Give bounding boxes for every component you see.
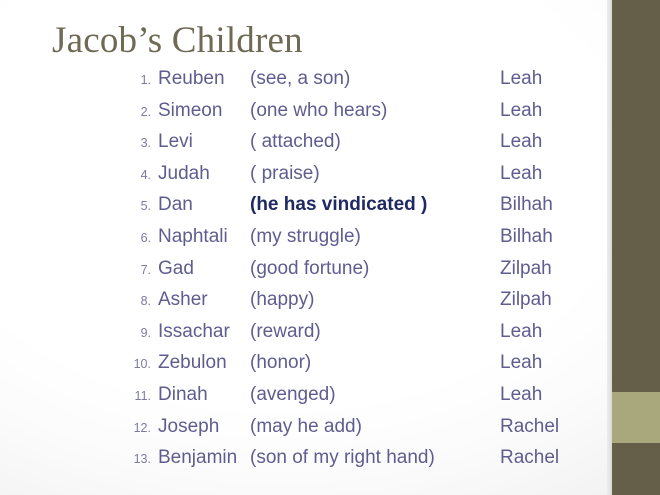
list-item-number: 3. (126, 136, 158, 150)
list-item-name: Levi (158, 131, 250, 153)
list-item-number: 9. (126, 326, 158, 340)
list-item-number: 8. (126, 294, 158, 308)
list-item-meaning: (one who hears) (250, 100, 500, 122)
list-item-meaning: (may he add) (250, 416, 500, 438)
list-item-name: Asher (158, 289, 250, 311)
list-item-name: Naphtali (158, 226, 250, 248)
list-item-number: 11. (126, 389, 158, 403)
list-item: 12.Joseph(may he add)Rachel (126, 416, 606, 448)
list-item-number: 12. (126, 421, 158, 435)
list-item-mother: Leah (500, 321, 542, 343)
list-item-mother: Leah (500, 352, 542, 374)
list-item-name: Reuben (158, 68, 250, 90)
list-item: 6.Naphtali(my struggle)Bilhah (126, 226, 606, 258)
children-list: 1.Reuben(see, a son)Leah2.Simeon(one who… (126, 68, 606, 479)
list-item-mother: Leah (500, 131, 542, 153)
list-item-name: Judah (158, 163, 250, 185)
list-item-number: 10. (126, 357, 158, 371)
list-item: 3.Levi( attached)Leah (126, 131, 606, 163)
list-item-name: Joseph (158, 416, 250, 438)
list-item-number: 6. (126, 231, 158, 245)
list-item-number: 1. (126, 73, 158, 87)
list-item: 5.Dan(he has vindicated )Bilhah (126, 194, 606, 226)
list-item-name: Zebulon (158, 352, 250, 374)
list-item-name: Dinah (158, 384, 250, 406)
list-item-number: 2. (126, 105, 158, 119)
list-item: 1.Reuben(see, a son)Leah (126, 68, 606, 100)
list-item-mother: Zilpah (500, 289, 552, 311)
list-item: 2.Simeon(one who hears)Leah (126, 100, 606, 132)
list-item-name: Dan (158, 194, 250, 216)
list-item-meaning: (son of my right hand) (250, 447, 500, 469)
list-item-mother: Rachel (500, 447, 559, 469)
list-item-number: 7. (126, 263, 158, 277)
list-item-mother: Leah (500, 68, 542, 90)
list-item-mother: Rachel (500, 416, 559, 438)
list-item-meaning: (reward) (250, 321, 500, 343)
list-item-name: Simeon (158, 100, 250, 122)
list-item-meaning: ( praise) (250, 163, 500, 185)
list-item-mother: Zilpah (500, 258, 552, 280)
page-title: Jacob’s Children (52, 21, 303, 62)
list-item-name: Gad (158, 258, 250, 280)
list-item-number: 13. (126, 452, 158, 466)
list-item-meaning: ( attached) (250, 131, 500, 153)
right-decorative-bar-accent (612, 392, 660, 443)
list-item-mother: Leah (500, 384, 542, 406)
list-item-meaning: (my struggle) (250, 226, 500, 248)
list-item-meaning: (he has vindicated ) (250, 194, 500, 216)
list-item-mother: Bilhah (500, 226, 553, 248)
list-item-mother: Leah (500, 163, 542, 185)
list-item-name: Benjamin (158, 447, 250, 469)
list-item-meaning: (good fortune) (250, 258, 500, 280)
list-item-meaning: (avenged) (250, 384, 500, 406)
list-item: 4.Judah( praise)Leah (126, 163, 606, 195)
list-item-number: 4. (126, 168, 158, 182)
list-item: 8.Asher(happy)Zilpah (126, 289, 606, 321)
list-item-mother: Bilhah (500, 194, 553, 216)
list-item: 11.Dinah(avenged)Leah (126, 384, 606, 416)
list-item: 9.Issachar(reward)Leah (126, 321, 606, 353)
list-item-meaning: (honor) (250, 352, 500, 374)
slide-canvas: Jacob’s Children 1.Reuben(see, a son)Lea… (0, 0, 660, 495)
list-item-name: Issachar (158, 321, 250, 343)
list-item-meaning: (see, a son) (250, 68, 500, 90)
list-item-number: 5. (126, 199, 158, 213)
list-item-mother: Leah (500, 100, 542, 122)
list-item: 10.Zebulon(honor)Leah (126, 352, 606, 384)
list-item: 7.Gad(good fortune)Zilpah (126, 258, 606, 290)
list-item: 13.Benjamin(son of my right hand)Rachel (126, 447, 606, 479)
list-item-meaning: (happy) (250, 289, 500, 311)
